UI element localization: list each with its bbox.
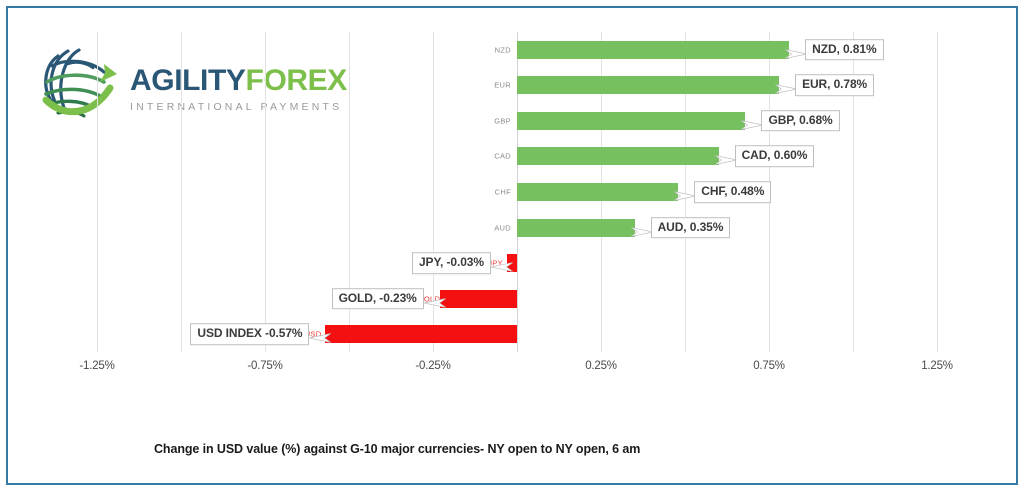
bar-jpy[interactable] — [507, 254, 517, 272]
bar-gold[interactable] — [440, 290, 517, 308]
y-axis-category-label: AUD — [494, 224, 511, 232]
chart-row: GBPGBP, 0.68% — [97, 103, 937, 139]
chart-row: CADCAD, 0.60% — [97, 139, 937, 175]
chart-row: AUDAUD, 0.35% — [97, 210, 937, 246]
image-frame: AGILITYFOREX INTERNATIONAL PAYMENTS -1.2… — [6, 6, 1018, 485]
screenshot-root: AGILITYFOREX INTERNATIONAL PAYMENTS -1.2… — [0, 0, 1024, 491]
gridline — [937, 32, 938, 352]
bar-chf[interactable] — [517, 183, 678, 201]
x-axis-tick-label: -0.75% — [247, 360, 282, 372]
chart-row: GOLDGOLD, -0.23% — [97, 281, 937, 317]
bar-nzd[interactable] — [517, 41, 789, 59]
y-axis-category-label: EUR — [494, 82, 511, 90]
bar-cad[interactable] — [517, 147, 719, 165]
chart-row: USDUSD INDEX -0.57% — [97, 316, 937, 352]
data-label-usd-index[interactable]: USD INDEX -0.57% — [190, 323, 309, 345]
data-label-chf[interactable]: CHF, 0.48% — [694, 181, 771, 203]
x-axis-tick-label: 0.75% — [753, 360, 785, 372]
x-axis-tick-label: -1.25% — [79, 360, 114, 372]
x-axis-tick-label: -0.25% — [415, 360, 450, 372]
data-label-gold[interactable]: GOLD, -0.23% — [332, 288, 424, 310]
bar-usd-index[interactable] — [325, 325, 517, 343]
chart-row: JPYJPY, -0.03% — [97, 245, 937, 281]
bar-eur[interactable] — [517, 76, 779, 94]
x-axis-tick-label: 0.25% — [585, 360, 617, 372]
data-label-cad[interactable]: CAD, 0.60% — [735, 146, 815, 168]
chart-row: NZDNZD, 0.81% — [97, 32, 937, 68]
y-axis-category-label: NZD — [495, 46, 511, 54]
chart-row: CHFCHF, 0.48% — [97, 174, 937, 210]
data-label-gbp[interactable]: GBP, 0.68% — [761, 110, 839, 132]
bar-gbp[interactable] — [517, 112, 745, 130]
data-label-aud[interactable]: AUD, 0.35% — [651, 217, 731, 239]
y-axis-category-label: CHF — [495, 188, 511, 196]
plot-area: -1.25%-0.75%-0.25%0.25%0.75%1.25%NZDNZD,… — [97, 32, 937, 352]
bar-aud[interactable] — [517, 219, 635, 237]
y-axis-category-label: GBP — [494, 117, 511, 125]
data-label-jpy[interactable]: JPY, -0.03% — [412, 252, 491, 274]
bar-chart: -1.25%-0.75%-0.25%0.25%0.75%1.25%NZDNZD,… — [8, 8, 1020, 487]
data-label-nzd[interactable]: NZD, 0.81% — [805, 39, 883, 61]
data-label-eur[interactable]: EUR, 0.78% — [795, 75, 874, 97]
y-axis-category-label: CAD — [494, 153, 511, 161]
chart-caption: Change in USD value (%) against G-10 maj… — [154, 442, 640, 456]
x-axis-tick-label: 1.25% — [921, 360, 953, 372]
chart-row: EUREUR, 0.78% — [97, 68, 937, 104]
